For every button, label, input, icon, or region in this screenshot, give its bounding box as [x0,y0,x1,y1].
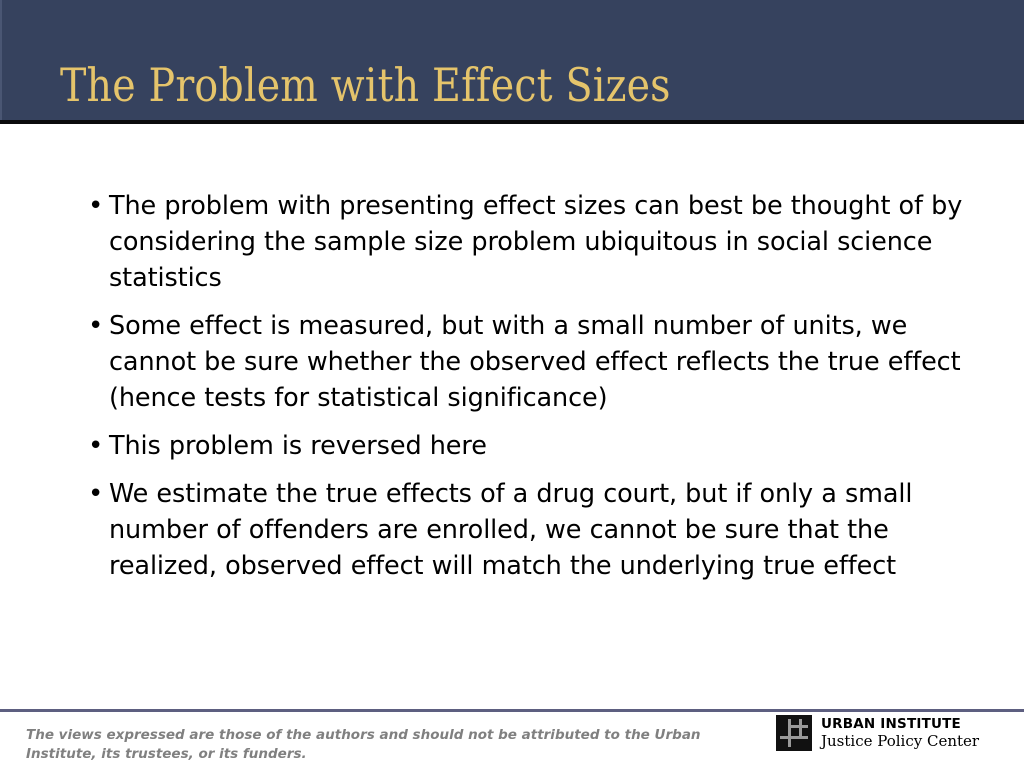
window-grid-icon [776,715,812,751]
logo-organization-name: URBAN INSTITUTE [821,716,979,732]
list-item: • This problem is reversed here [78,428,988,464]
bullet-icon: • [78,308,109,344]
bullet-icon: • [78,188,109,224]
list-item-text: The problem with presenting effect sizes… [109,188,988,296]
bullet-icon: • [78,428,109,464]
list-item-text: This problem is reversed here [109,428,988,464]
list-item: • Some effect is measured, but with a sm… [78,308,988,416]
list-item-text: Some effect is measured, but with a smal… [109,308,988,416]
logo-subtitle: Justice Policy Center [821,732,979,751]
list-item: • The problem with presenting effect siz… [78,188,988,296]
disclaimer-text: The views expressed are those of the aut… [26,726,766,764]
page-title: The Problem with Effect Sizes [60,57,671,113]
list-item: • We estimate the true effects of a drug… [78,476,988,584]
logo-wordmark: URBAN INSTITUTE Justice Policy Center [821,716,979,751]
bullet-icon: • [78,476,109,512]
slide-title-banner: The Problem with Effect Sizes [0,0,1024,124]
urban-institute-logo: URBAN INSTITUTE Justice Policy Center [776,715,979,751]
slide-body: • The problem with presenting effect siz… [78,188,988,596]
list-item-text: We estimate the true effects of a drug c… [109,476,988,584]
